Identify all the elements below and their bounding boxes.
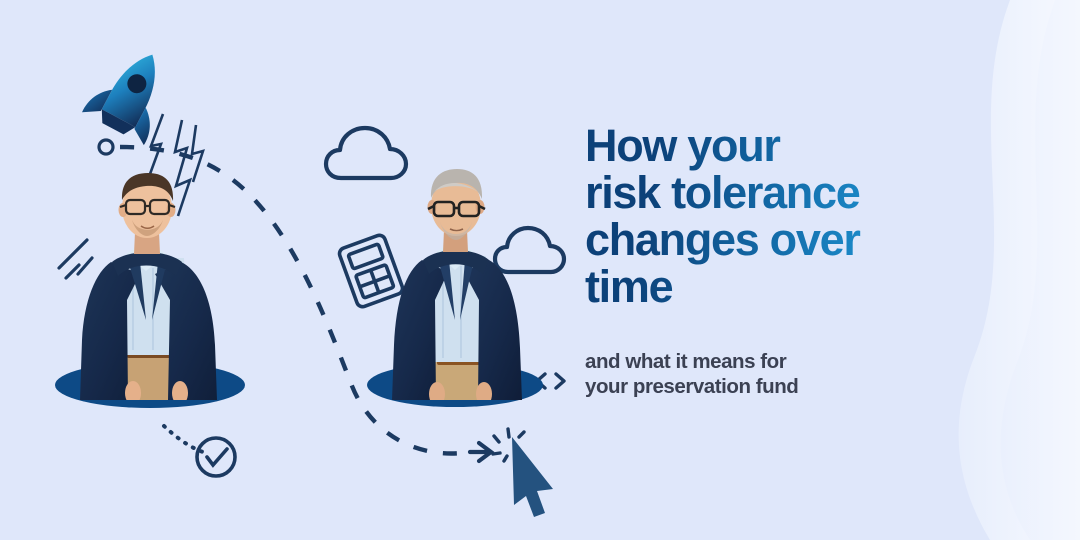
page-subtitle: and what it means for your preservation …: [585, 349, 935, 399]
hero-banner: How your risk tolerance changes over tim…: [0, 0, 1080, 540]
page-title: How your risk tolerance changes over tim…: [585, 122, 935, 310]
rainbow-accent-bar: [585, 324, 695, 331]
hero-text-column: How your risk tolerance changes over tim…: [585, 122, 935, 399]
